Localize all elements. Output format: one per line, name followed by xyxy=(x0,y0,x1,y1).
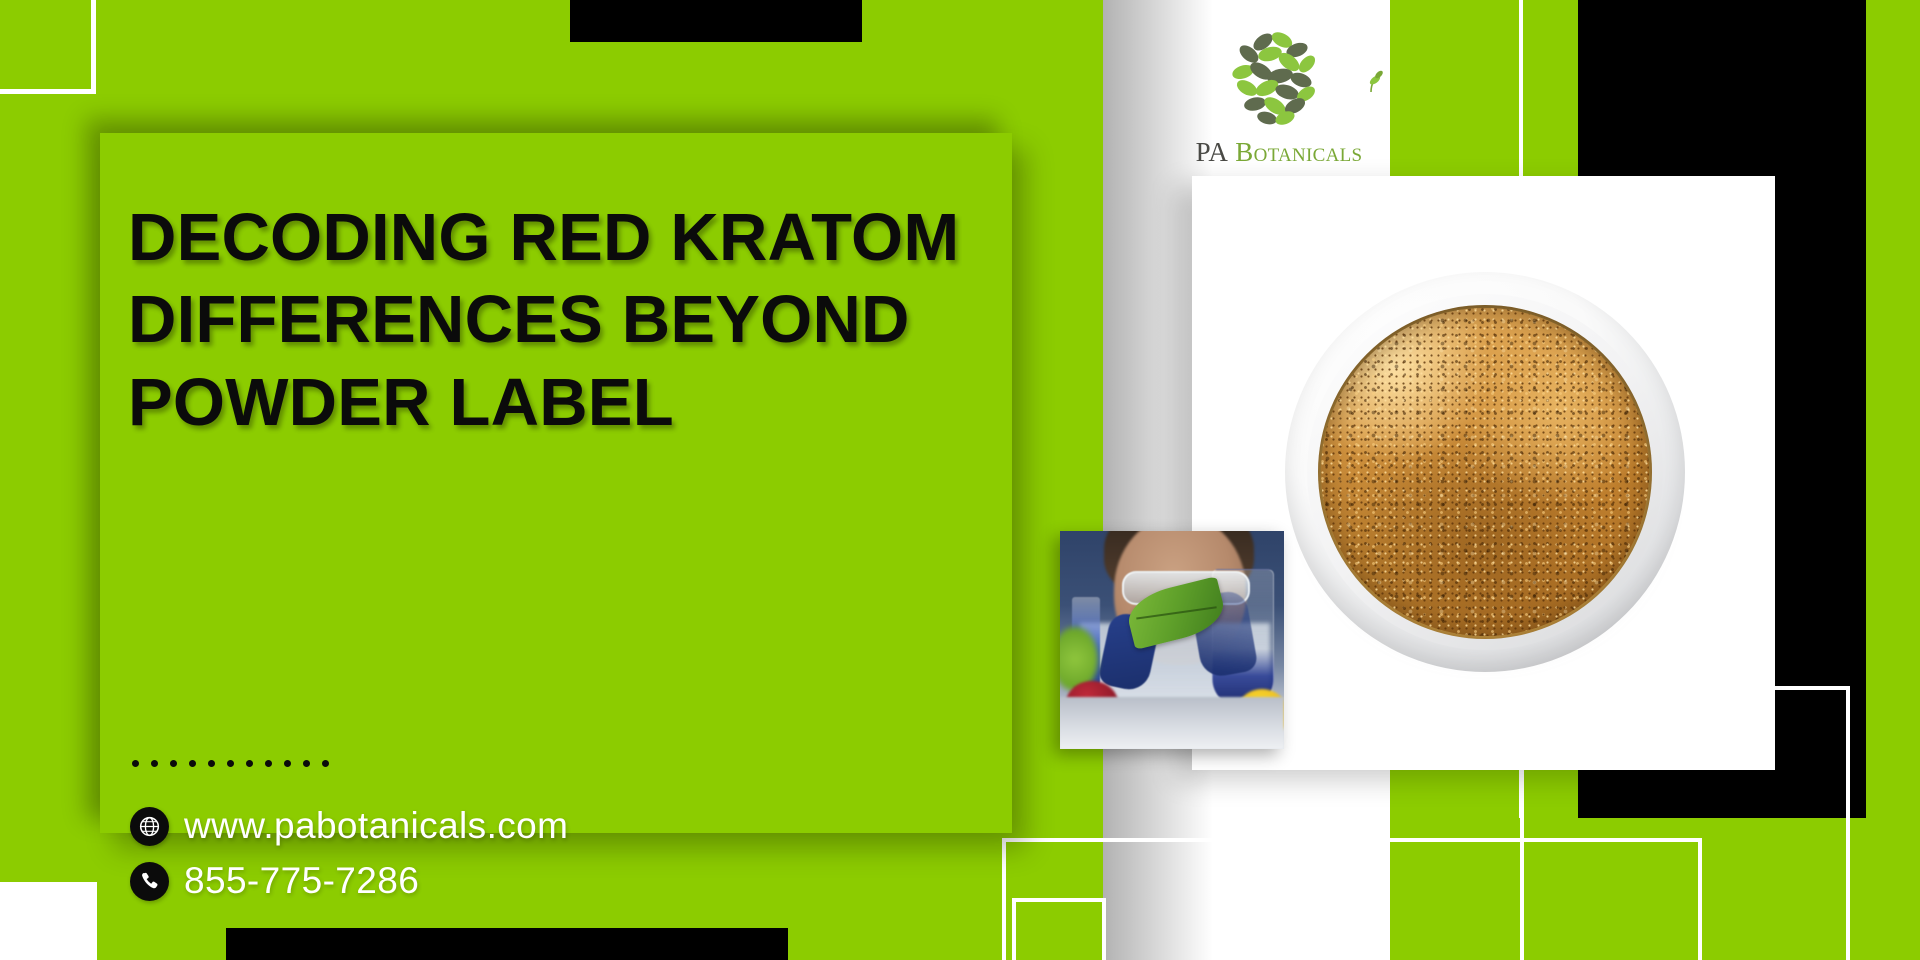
decor-corner-frame-top-left xyxy=(0,0,96,94)
kratom-powder xyxy=(1321,308,1649,636)
powder-texture-coarse xyxy=(1321,308,1649,636)
divider-dot xyxy=(227,760,234,767)
page-title: Decoding Red Kratom Differences Beyond P… xyxy=(128,197,1008,444)
phone-icon xyxy=(130,862,169,901)
divider-dot xyxy=(322,760,329,767)
brand-logo[interactable]: PA Botanicals xyxy=(1168,26,1390,168)
phone-number-text: 855-775-7286 xyxy=(184,860,419,902)
product-bowl-image xyxy=(1285,272,1685,672)
contact-row-website[interactable]: www.pabotanicals.com xyxy=(130,805,568,847)
decor-frame-bottom-small xyxy=(1012,898,1106,960)
divider-dot xyxy=(303,760,310,767)
divider-dot xyxy=(170,760,177,767)
contact-list: www.pabotanicals.com 855-775-7286 xyxy=(130,805,568,915)
sprout-icon xyxy=(1358,70,1384,94)
divider-dot xyxy=(265,760,272,767)
brand-name-pa: PA xyxy=(1196,137,1229,167)
dot-divider xyxy=(132,760,329,767)
contact-row-phone[interactable]: 855-775-7286 xyxy=(130,860,568,902)
brand-name-botanicals: Botanicals xyxy=(1235,137,1362,167)
globe-icon xyxy=(130,807,169,846)
website-url-text: www.pabotanicals.com xyxy=(184,805,568,847)
divider-dot xyxy=(284,760,291,767)
decor-black-bar-top xyxy=(570,0,862,42)
headline-panel: Decoding Red Kratom Differences Beyond P… xyxy=(100,133,1012,833)
divider-dot xyxy=(246,760,253,767)
decor-white-block-bottom-left xyxy=(0,882,97,960)
decor-frame-bottom-wide xyxy=(1002,838,1702,960)
laboratory-inset-image xyxy=(1060,531,1284,749)
leaf-cluster-icon xyxy=(1225,26,1333,136)
divider-dot xyxy=(208,760,215,767)
decor-black-bar-bottom xyxy=(226,928,788,960)
lab-bench-surface xyxy=(1060,697,1284,749)
divider-dot xyxy=(189,760,196,767)
banner-canvas: Decoding Red Kratom Differences Beyond P… xyxy=(0,0,1920,960)
divider-dot xyxy=(132,760,139,767)
divider-dot xyxy=(151,760,158,767)
brand-wordmark: PA Botanicals xyxy=(1168,137,1390,168)
decor-green-edge-right xyxy=(1866,0,1920,960)
